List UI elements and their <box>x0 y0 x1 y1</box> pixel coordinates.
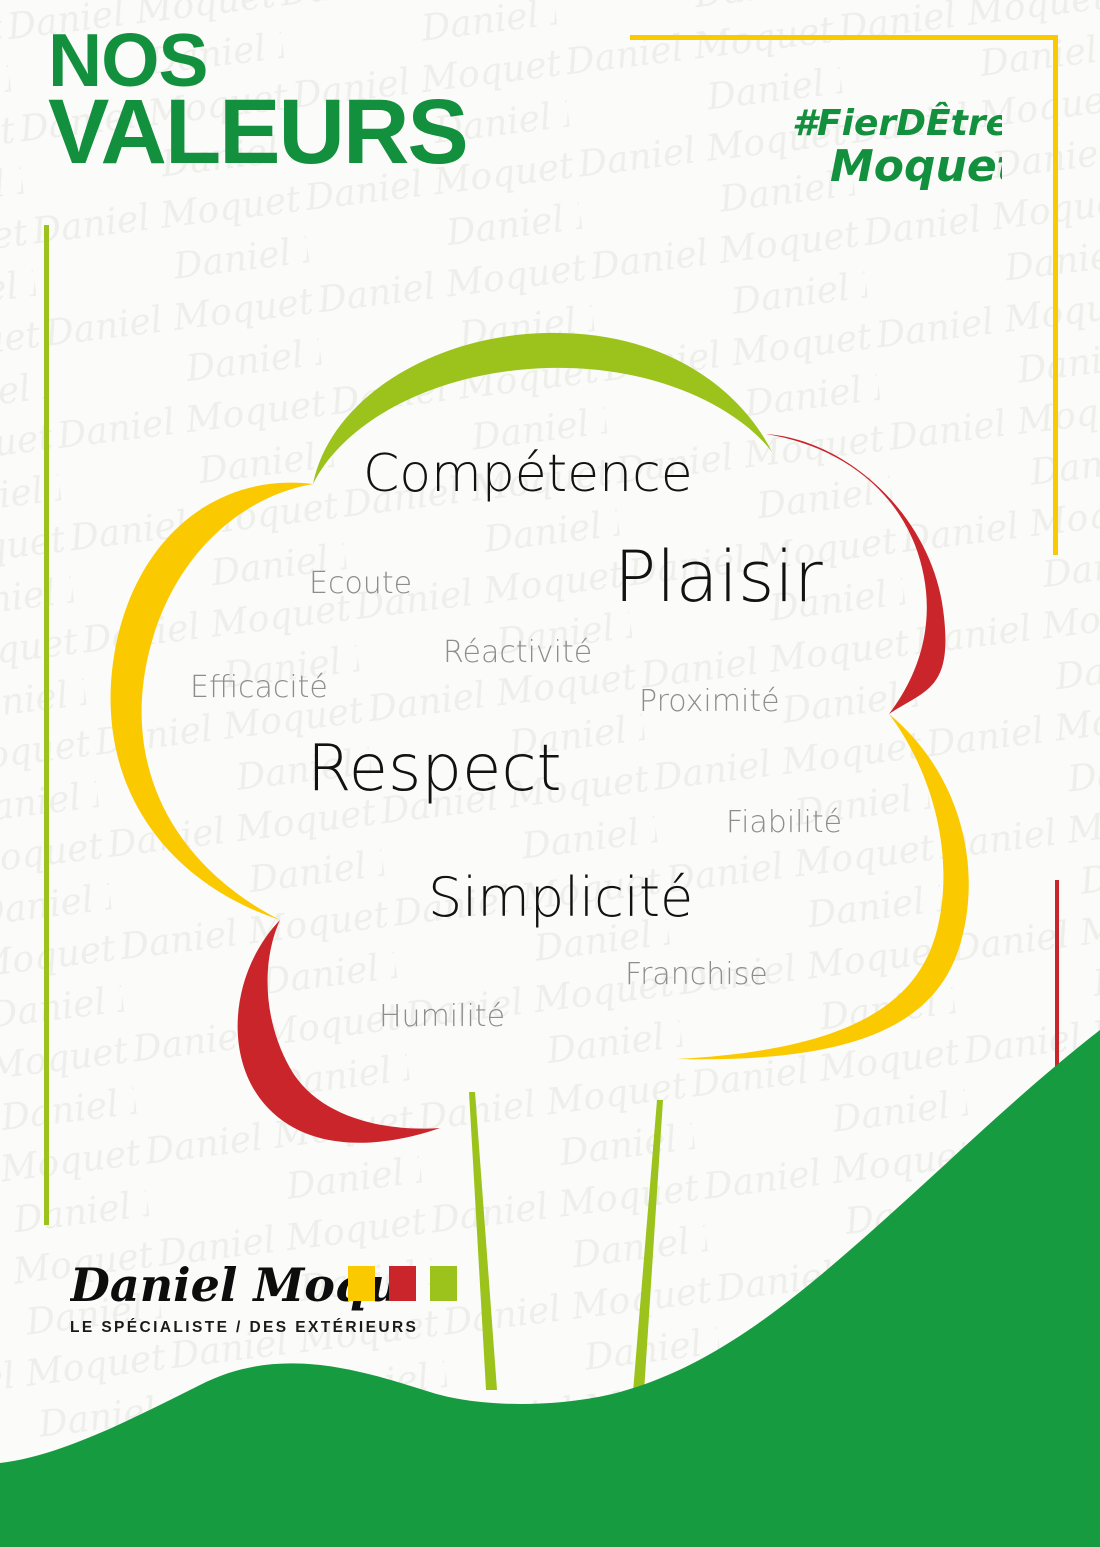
value-word-efficacite: Efficacité <box>190 670 328 705</box>
hashtag-line-1: #FierDÊtre <box>792 102 1002 144</box>
swatch-green <box>430 1266 457 1301</box>
value-word-humilite: Humilité <box>379 999 505 1034</box>
logo-script-wrap: Daniel Moquet <box>70 1255 400 1317</box>
logo-tagline: LE SPÉCIALISTE / DES EXTÉRIEURS <box>70 1319 450 1337</box>
value-word-simplicite: Simplicité <box>428 866 693 929</box>
swatch-red <box>389 1266 416 1301</box>
poster-canvas: Daniel Moquet Daniel Moquet NOS VALEURS <box>0 0 1100 1547</box>
brand-logo: Daniel Moquet LE SPÉCIALISTE / DES EXTÉR… <box>70 1255 450 1337</box>
tree-trunk-left <box>469 1092 497 1390</box>
logo-color-swatches <box>348 1266 457 1301</box>
value-word-competence: Compétence <box>363 444 693 504</box>
title-line-valeurs: VALEURS <box>48 93 467 172</box>
value-word-franchise: Franchise <box>625 957 768 992</box>
swatch-yellow <box>348 1266 375 1301</box>
value-word-reactivite: Réactivité <box>443 635 592 670</box>
canopy-arc-right-yellow <box>676 714 969 1059</box>
value-word-ecoute: Ecoute <box>309 566 412 601</box>
page-title: NOS VALEURS <box>48 28 467 172</box>
hashtag-line-2: Moquet <box>830 141 1002 192</box>
value-word-respect: Respect <box>307 732 562 806</box>
value-word-proximite: Proximité <box>639 684 780 719</box>
value-word-plaisir: Plaisir <box>614 536 823 618</box>
tree-trunk-right <box>633 1100 663 1392</box>
value-word-fiabilite: Fiabilité <box>726 805 842 840</box>
hashtag-logo: #FierDÊtre Moquet <box>792 95 1002 195</box>
